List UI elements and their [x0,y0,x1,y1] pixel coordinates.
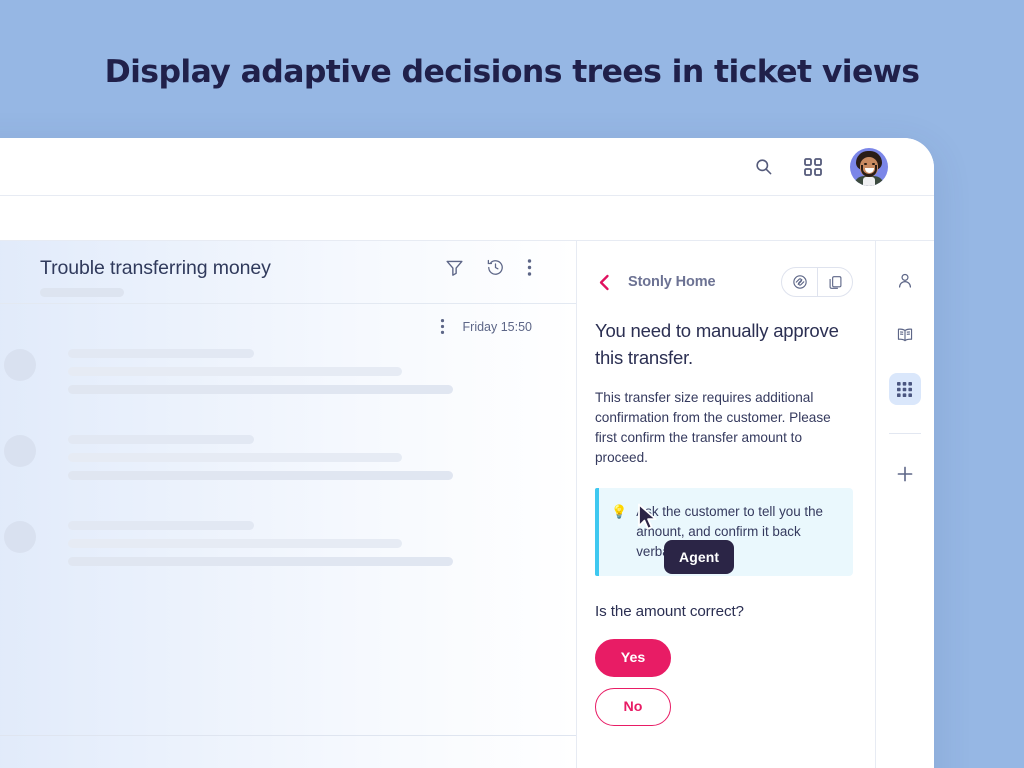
text-placeholder-group [68,517,532,575]
stonly-guide-pane: Stonly Home [577,241,876,768]
guide-question: Is the amount correct? [595,603,853,620]
avatar-eye-right [872,163,875,166]
person-icon[interactable] [889,265,921,297]
ticket-header-actions [445,258,532,277]
promo-canvas: Display adaptive decisions trees in tick… [0,0,1024,768]
history-clock-icon[interactable] [486,258,505,277]
right-icon-rail [876,241,933,768]
guide-body-text: This transfer size requires additional c… [595,388,853,468]
text-placeholder-group [68,431,532,489]
guide-choices: Yes No [595,639,853,737]
app-topbar [0,138,934,196]
text-placeholder-line [68,349,254,358]
copy-icon[interactable] [817,268,852,296]
text-placeholder-line [68,521,254,530]
page-title: Display adaptive decisions trees in tick… [0,54,1024,90]
user-avatar[interactable] [850,148,888,186]
message-more-icon[interactable] [440,318,445,335]
link-icon[interactable] [782,268,817,296]
grid-icon[interactable] [889,373,921,405]
text-placeholder-line [68,453,402,462]
choice-yes-button[interactable]: Yes [595,639,671,677]
ticket-message-meta: Friday 15:50 [0,304,576,335]
avatar-placeholder [4,349,36,381]
lightbulb-icon: 💡 [611,502,627,562]
text-placeholder-group [68,345,532,403]
ticket-subtitle-placeholder [40,288,124,297]
ticket-header: Trouble transferring money [0,241,576,304]
text-placeholder-line [68,471,453,480]
list-item [4,431,532,489]
guide-header-actions [781,267,853,297]
avatar-placeholder [4,521,36,553]
plus-icon[interactable] [889,458,921,490]
app-window: Trouble transferring money [0,138,934,768]
agent-tooltip: Agent [664,540,734,574]
text-placeholder-line [68,539,402,548]
text-placeholder-line [68,385,453,394]
ticket-pane: Trouble transferring money [0,241,577,768]
list-item [4,345,532,403]
guide-home-label: Stonly Home [628,274,716,290]
filter-icon[interactable] [445,258,464,277]
message-timestamp: Friday 15:50 [463,320,532,334]
grid-apps-icon[interactable] [800,154,826,180]
avatar-placeholder [4,435,36,467]
guide-title: You need to manually approve this transf… [595,317,853,371]
text-placeholder-line [68,435,254,444]
back-chevron-icon[interactable] [595,273,613,291]
avatar-shirt [863,177,875,186]
book-icon[interactable] [889,319,921,351]
ticket-message-list [0,335,576,575]
app-content: Trouble transferring money [0,241,934,768]
text-placeholder-line [68,557,453,566]
more-kebab-icon[interactable] [527,258,532,277]
rail-divider [889,433,921,434]
app-subbar [0,196,934,241]
avatar-eye-left [864,163,867,166]
guide-header: Stonly Home [595,265,853,299]
choice-no-button[interactable]: No [595,688,671,726]
ticket-title: Trouble transferring money [40,257,271,280]
search-icon[interactable] [750,154,776,180]
ticket-pane-divider [0,735,576,736]
list-item [4,517,532,575]
text-placeholder-line [68,367,402,376]
